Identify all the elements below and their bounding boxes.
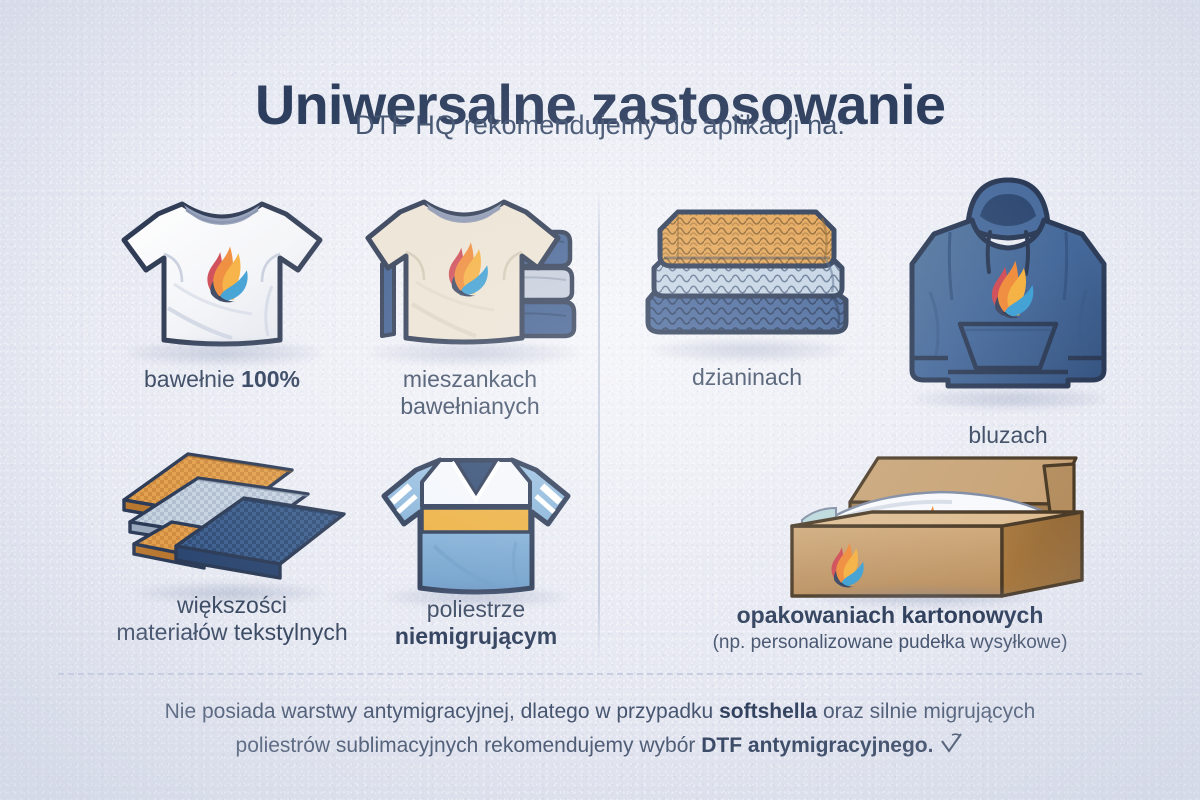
caption-text-line1: mieszankach <box>403 366 537 392</box>
fabric-swatch-stack-icon <box>112 440 352 600</box>
caption-text-bold: niemigrującym <box>395 623 557 649</box>
folded-knit-fabric-illustration <box>634 196 860 426</box>
footer-line1-part-b: oraz silnie migrujących <box>817 700 1035 723</box>
caption-text-bold: 100% <box>241 366 300 392</box>
item-cotton-blends: mieszankach bawełnianych <box>352 188 588 428</box>
item-cardboard-packaging: opakowaniach kartonowych (np. personaliz… <box>690 450 1090 665</box>
open-cardboard-box-illustration <box>690 450 1090 600</box>
footer-note: Nie posiada warstwy antymigracyjnej, dla… <box>0 695 1200 765</box>
footer-line1-part-a: Nie posiada warstwy antymigracyjnej, dla… <box>165 700 719 723</box>
caption-text: dzianinach <box>692 364 802 390</box>
caption-non-migrating-polyester: poliestrze niemigrującym <box>370 596 582 650</box>
blue-hoodie-icon <box>890 172 1126 402</box>
caption-cotton-tshirt: bawełnie 100% <box>112 366 332 393</box>
checkmark-icon <box>940 731 964 765</box>
footer-line1-bold: softshella <box>719 700 817 723</box>
horizontal-dashed-divider <box>58 673 1142 675</box>
folded-tshirt-stack-icon <box>352 188 588 358</box>
footer-line-1: Nie posiada warstwy antymigracyjnej, dla… <box>0 695 1200 729</box>
caption-cardboard-packaging: opakowaniach kartonowych (np. personaliz… <box>690 602 1090 655</box>
footer-line-2: poliestrów sublimacyjnych rekomendujemy … <box>0 729 1200 765</box>
caption-hoodies: bluzach <box>890 422 1126 449</box>
vertical-divider <box>598 190 600 660</box>
sports-jersey-icon <box>370 450 582 605</box>
item-hoodies: bluzach <box>890 172 1126 462</box>
caption-text-line2: materiałów tekstylnych <box>116 619 347 645</box>
white-tshirt-icon <box>112 188 332 358</box>
page-subtitle: DTF HQ rekomendujemy do aplikacji na: <box>0 110 1200 141</box>
caption-text-bold: opakowaniach kartonowych <box>737 602 1044 628</box>
open-cardboard-box-icon <box>744 450 1144 600</box>
blue-hoodie-illustration <box>890 172 1126 462</box>
caption-text-line2: bawełnianych <box>400 393 539 419</box>
item-knitwear: dzianinach <box>634 196 860 426</box>
infographic-poster: Uniwersalne zastosowanie DTF HQ rekomend… <box>0 0 1200 800</box>
caption-text-regular: bawełnie <box>144 366 241 392</box>
item-textiles: większości materiałów tekstylnych <box>112 440 352 655</box>
caption-textiles: większości materiałów tekstylnych <box>112 592 352 646</box>
caption-cotton-blends: mieszankach bawełnianych <box>352 366 588 420</box>
footer-line2-part-a: poliestrów sublimacyjnych rekomendujemy … <box>236 734 702 757</box>
footer-line2-bold: DTF antymigracyjnego. <box>701 734 933 757</box>
caption-knitwear: dzianinach <box>634 364 860 391</box>
folded-knit-fabric-stack-icon <box>634 196 860 356</box>
caption-text-line1: większości <box>177 592 287 618</box>
caption-text-regular: poliestrze <box>427 596 525 622</box>
caption-text-sub: (np. personalizowane pudełka wysyłkowe) <box>690 632 1090 654</box>
item-non-migrating-polyester: poliestrze niemigrującym <box>370 450 582 655</box>
caption-text: bluzach <box>968 422 1047 448</box>
item-cotton-tshirt: bawełnie 100% <box>112 188 332 428</box>
